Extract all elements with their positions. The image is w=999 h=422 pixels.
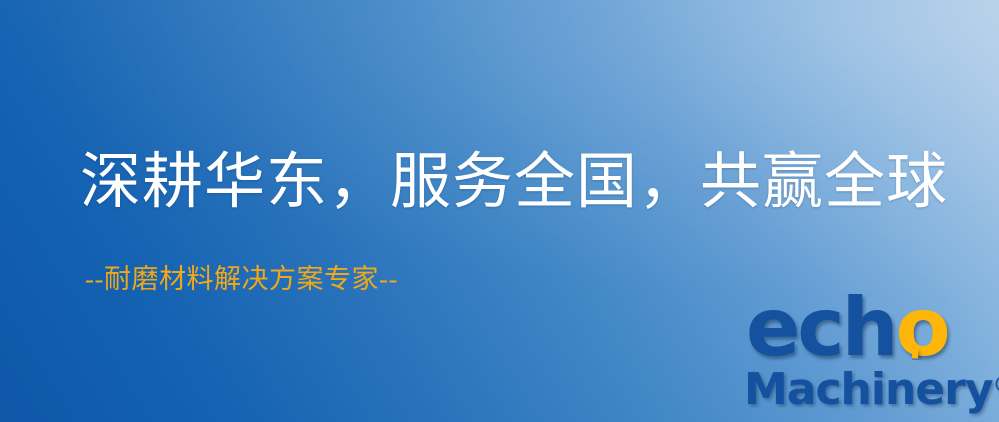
hero-banner: 深耕华东，服务全国，共赢全球 --耐磨材料解决方案专家-- echo bbox=[0, 0, 999, 422]
page-title: 深耕华东，服务全国，共赢全球 bbox=[80, 152, 948, 213]
wave-arc-middle bbox=[912, 313, 918, 354]
signal-waves-icon bbox=[912, 290, 999, 360]
logo-tagline: Machinery® bbox=[744, 368, 999, 412]
brand-logo: echo Machinery® bbox=[744, 294, 999, 422]
page-subtitle: --耐磨材料解决方案专家-- bbox=[85, 266, 398, 293]
registered-trademark-icon: ® bbox=[993, 373, 999, 398]
logo-tagline-text: Machinery bbox=[744, 364, 993, 415]
wave-arc-outer bbox=[912, 298, 918, 354]
logo-wordmark-ech: ech bbox=[746, 281, 896, 374]
